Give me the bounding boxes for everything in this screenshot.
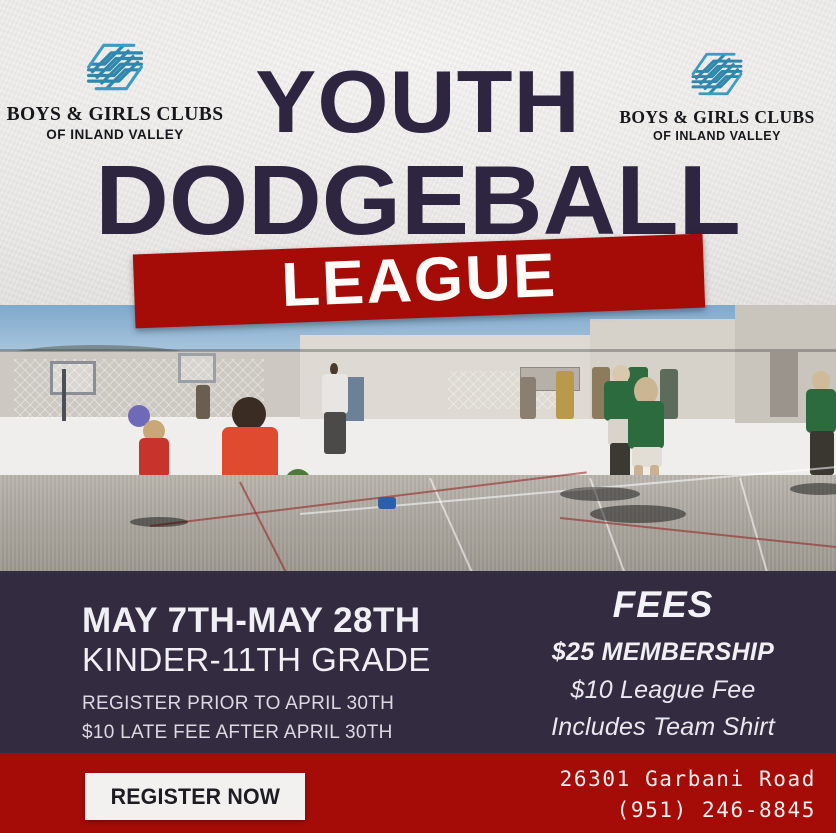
photo-roofline xyxy=(0,349,836,352)
league-banner-label: LEAGUE xyxy=(280,245,558,317)
photo-player-child xyxy=(232,397,266,431)
details-block: MAY 7TH-MAY 28TH KINDER-11TH GRADE REGIS… xyxy=(82,602,431,747)
photo-player-child xyxy=(812,371,830,391)
register-now-label: REGISTER NOW xyxy=(110,784,280,810)
photo-spectator xyxy=(520,377,536,419)
photo-cone-marker xyxy=(378,497,396,509)
contact-address: 26301 Garbani Road xyxy=(460,764,816,795)
fees-block: FEES $25 MEMBERSHIP $10 League Fee Inclu… xyxy=(500,586,826,743)
photo-adult-coach xyxy=(322,374,348,414)
fees-title: FEES xyxy=(500,586,826,625)
photo-player-child xyxy=(610,443,630,479)
photo-basketball-backboard-2 xyxy=(178,353,216,383)
photo-hoop-pole xyxy=(62,369,66,421)
photo-shadow xyxy=(130,517,188,527)
fees-includes: Includes Team Shirt xyxy=(500,712,826,743)
contact-phone[interactable]: (951) 246-8845 xyxy=(460,795,816,826)
photo-adult-coach xyxy=(324,412,346,454)
dodgeball-league-flyer: BOYS & GIRLS CLUBS OF INLAND VALLEY BOYS… xyxy=(0,0,836,833)
photo-player-child xyxy=(806,389,836,433)
registration-note-2: $10 LATE FEE AFTER APRIL 30TH xyxy=(82,720,431,747)
photo-shadow xyxy=(560,487,640,501)
photo-spectator xyxy=(196,385,210,419)
photo-doorway-b xyxy=(770,351,798,417)
photo-shadow xyxy=(590,505,686,523)
headline-line-2: DODGEBALL xyxy=(0,155,836,245)
dodgeball-photo xyxy=(0,305,836,571)
photo-basketball-backboard xyxy=(50,361,96,395)
fees-membership: $25 MEMBERSHIP xyxy=(500,637,826,667)
headline-line-1: YOUTH xyxy=(0,62,836,143)
photo-court-texture xyxy=(0,475,836,571)
registration-note-1: REGISTER PRIOR TO APRIL 30TH xyxy=(82,691,431,718)
program-grades: KINDER-11TH GRADE xyxy=(82,642,431,679)
contact-block: 26301 Garbani Road (951) 246-8845 xyxy=(460,764,828,826)
photo-player-child xyxy=(139,438,169,478)
photo-player-child xyxy=(628,401,664,449)
program-dates: MAY 7TH-MAY 28TH xyxy=(82,602,431,640)
photo-player-child xyxy=(632,447,662,467)
fees-league-fee: $10 League Fee xyxy=(500,675,826,706)
register-now-button[interactable]: REGISTER NOW xyxy=(85,773,305,820)
photo-spectator xyxy=(556,371,574,419)
